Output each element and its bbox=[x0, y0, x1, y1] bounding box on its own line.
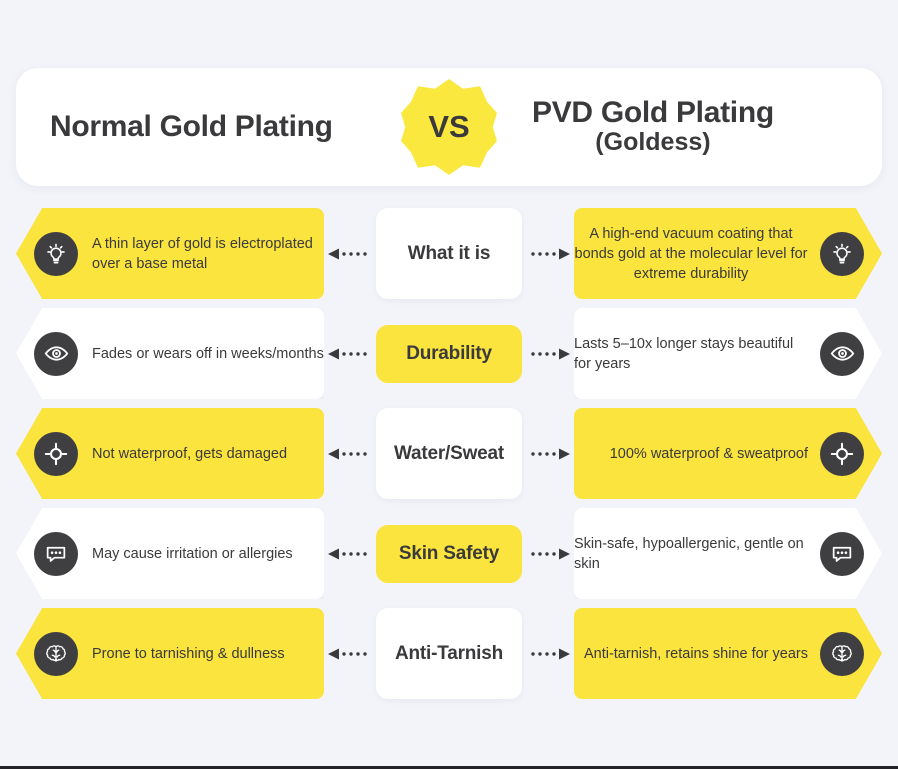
row-label: Skin Safety bbox=[399, 543, 499, 565]
row-center: Water/Sweat bbox=[324, 408, 574, 499]
right-column-subtitle: (Goldess) bbox=[595, 129, 710, 157]
left-column-title: Normal Gold Plating bbox=[50, 110, 333, 144]
lightbulb-icon bbox=[34, 232, 78, 276]
header-right-column: PVD Gold Plating (Goldess) bbox=[532, 68, 774, 186]
row-left-panel: Fades or wears off in weeks/months bbox=[16, 308, 324, 399]
comparison-row: Fades or wears off in weeks/months Durab… bbox=[16, 308, 882, 399]
row-label-box: What it is bbox=[376, 208, 522, 299]
row-label-box: Durability bbox=[376, 325, 522, 383]
brain-icon bbox=[820, 632, 864, 676]
row-label-box: Water/Sweat bbox=[376, 408, 522, 499]
row-label: What it is bbox=[408, 243, 490, 265]
row-right-text: Lasts 5–10x longer stays beautiful for y… bbox=[574, 334, 808, 374]
comparison-row: Prone to tarnishing & dullness Anti-Tarn… bbox=[16, 608, 882, 699]
arrow-left bbox=[328, 447, 374, 461]
row-label: Water/Sweat bbox=[394, 443, 504, 465]
row-center: Skin Safety bbox=[324, 508, 574, 599]
vs-star-badge: VS bbox=[401, 79, 497, 175]
row-right-text: Skin-safe, hypoallergenic, gentle on ski… bbox=[574, 534, 808, 574]
row-center: What it is bbox=[324, 208, 574, 299]
row-left-text: May cause irritation or allergies bbox=[92, 544, 293, 564]
row-right-text: 100% waterproof & sweatproof bbox=[610, 444, 808, 464]
row-label: Durability bbox=[406, 343, 492, 365]
row-left-text: Prone to tarnishing & dullness bbox=[92, 644, 285, 664]
crosshair-icon bbox=[34, 432, 78, 476]
row-left-panel: Not waterproof, gets damaged bbox=[16, 408, 324, 499]
comparison-rows: A thin layer of gold is electroplated ov… bbox=[16, 208, 882, 699]
eye-icon bbox=[820, 332, 864, 376]
row-label-box: Skin Safety bbox=[376, 525, 522, 583]
header-left-column: Normal Gold Plating bbox=[50, 68, 333, 186]
row-right-text: Anti-tarnish, retains shine for years bbox=[584, 644, 808, 664]
arrow-right bbox=[524, 647, 570, 661]
arrow-left bbox=[328, 647, 374, 661]
row-right-panel: Skin-safe, hypoallergenic, gentle on ski… bbox=[574, 508, 882, 599]
arrow-left bbox=[328, 347, 374, 361]
right-column-title: PVD Gold Plating bbox=[532, 97, 774, 129]
arrow-right bbox=[524, 547, 570, 561]
crosshair-icon bbox=[820, 432, 864, 476]
row-label: Anti-Tarnish bbox=[395, 643, 503, 665]
row-right-panel: 100% waterproof & sweatproof bbox=[574, 408, 882, 499]
eye-icon bbox=[34, 332, 78, 376]
brain-icon bbox=[34, 632, 78, 676]
comparison-infographic: Normal Gold Plating VS PVD Gold Plating … bbox=[0, 0, 898, 769]
comparison-row: May cause irritation or allergies Skin S… bbox=[16, 508, 882, 599]
chat-bubble-icon bbox=[820, 532, 864, 576]
row-left-panel: Prone to tarnishing & dullness bbox=[16, 608, 324, 699]
row-left-panel: A thin layer of gold is electroplated ov… bbox=[16, 208, 324, 299]
header-card: Normal Gold Plating VS PVD Gold Plating … bbox=[16, 68, 882, 186]
row-label-box: Anti-Tarnish bbox=[376, 608, 522, 699]
arrow-left bbox=[328, 247, 374, 261]
chat-bubble-icon bbox=[34, 532, 78, 576]
row-left-text: A thin layer of gold is electroplated ov… bbox=[92, 234, 324, 274]
row-center: Durability bbox=[324, 308, 574, 399]
row-center: Anti-Tarnish bbox=[324, 608, 574, 699]
vs-label: VS bbox=[428, 109, 469, 145]
row-left-text: Not waterproof, gets damaged bbox=[92, 444, 287, 464]
comparison-row: Not waterproof, gets damaged Water/Sweat bbox=[16, 408, 882, 499]
row-left-text: Fades or wears off in weeks/months bbox=[92, 344, 324, 364]
arrow-left bbox=[328, 547, 374, 561]
arrow-right bbox=[524, 447, 570, 461]
arrow-right bbox=[524, 347, 570, 361]
arrow-right bbox=[524, 247, 570, 261]
row-left-panel: May cause irritation or allergies bbox=[16, 508, 324, 599]
row-right-panel: A high-end vacuum coating that bonds gol… bbox=[574, 208, 882, 299]
row-right-text: A high-end vacuum coating that bonds gol… bbox=[574, 224, 808, 284]
comparison-row: A thin layer of gold is electroplated ov… bbox=[16, 208, 882, 299]
row-right-panel: Anti-tarnish, retains shine for years bbox=[574, 608, 882, 699]
lightbulb-icon bbox=[820, 232, 864, 276]
row-right-panel: Lasts 5–10x longer stays beautiful for y… bbox=[574, 308, 882, 399]
